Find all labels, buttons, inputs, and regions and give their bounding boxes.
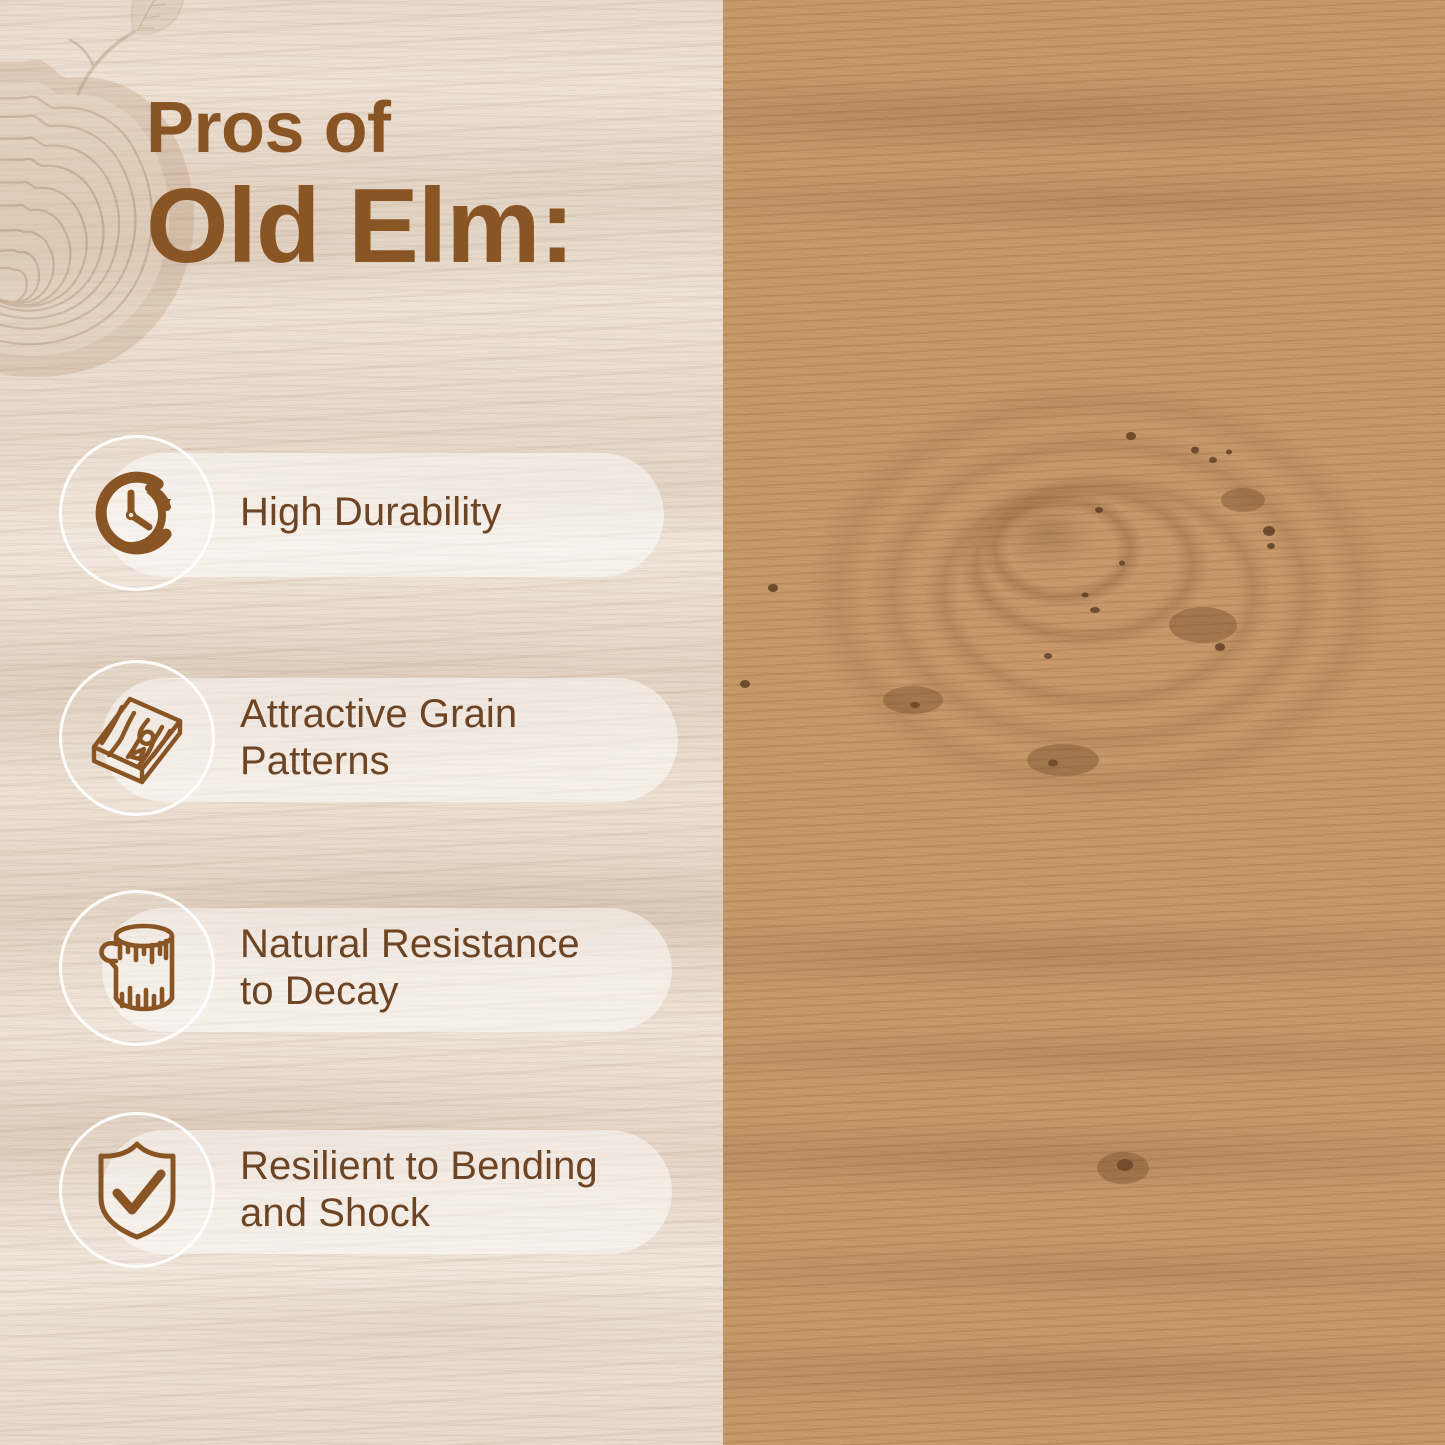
feature-icon-circle [59,660,215,816]
wood-plank-grain-icon [82,683,192,793]
elm-wood-photo-panel [723,0,1445,1445]
page-title-line-1: Pros of [146,92,706,164]
clock-rotate-arrow-icon [85,461,189,565]
poster-root: Pros of Old Elm: High Durability [0,0,1445,1445]
feature-item-resilient-bending[interactable]: Resilient to Bending and Shock [0,1112,723,1272]
tree-log-stump-icon [84,914,190,1022]
feature-icon-circle [59,1112,215,1268]
feature-label: High Durability [240,435,502,591]
page-title: Pros of Old Elm: [146,92,706,282]
feature-label: Natural Resistance to Decay [240,890,580,1046]
left-wood-background-panel: Pros of Old Elm: High Durability [0,0,723,1445]
elm-wood-knot-specks [723,0,1445,1445]
feature-item-natural-resistance[interactable]: Natural Resistance to Decay [0,890,723,1050]
feature-icon-circle [59,890,215,1046]
feature-icon-circle [59,435,215,591]
feature-item-attractive-grain[interactable]: Attractive Grain Patterns [0,660,723,820]
shield-check-icon [85,1136,189,1244]
feature-label: Resilient to Bending and Shock [240,1112,598,1268]
feature-item-high-durability[interactable]: High Durability [0,435,723,595]
page-title-line-2: Old Elm: [146,170,706,282]
feature-label: Attractive Grain Patterns [240,660,517,816]
